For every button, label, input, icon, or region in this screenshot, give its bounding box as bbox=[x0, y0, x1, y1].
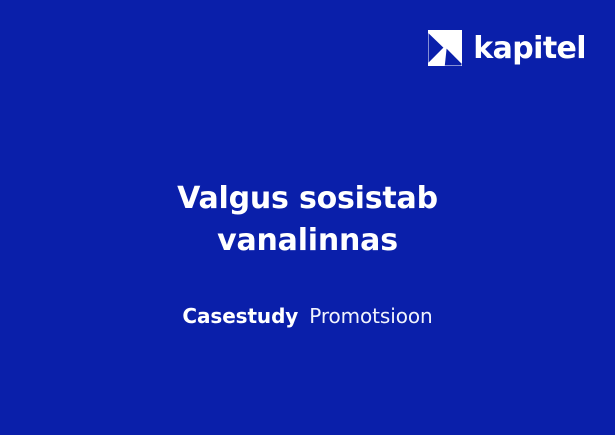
page-title: Valgus sosistab vanalinnas bbox=[40, 178, 575, 262]
subtitle-label: Casestudy bbox=[182, 304, 298, 328]
kapitel-k-mark-icon bbox=[428, 30, 462, 66]
subtitle: CasestudyPromotsioon bbox=[40, 303, 575, 329]
page-title-line-1: Valgus sosistab bbox=[40, 178, 575, 220]
subtitle-value: Promotsioon bbox=[309, 304, 432, 328]
brand-wordmark: kapitel bbox=[473, 34, 586, 64]
brand-logo[interactable]: kapitel bbox=[428, 29, 586, 67]
title-slide: kapitel Valgus sosistab vanalinnas Cases… bbox=[0, 0, 615, 435]
page-title-line-2: vanalinnas bbox=[40, 220, 575, 262]
title-block: Valgus sosistab vanalinnas CasestudyProm… bbox=[0, 178, 615, 329]
